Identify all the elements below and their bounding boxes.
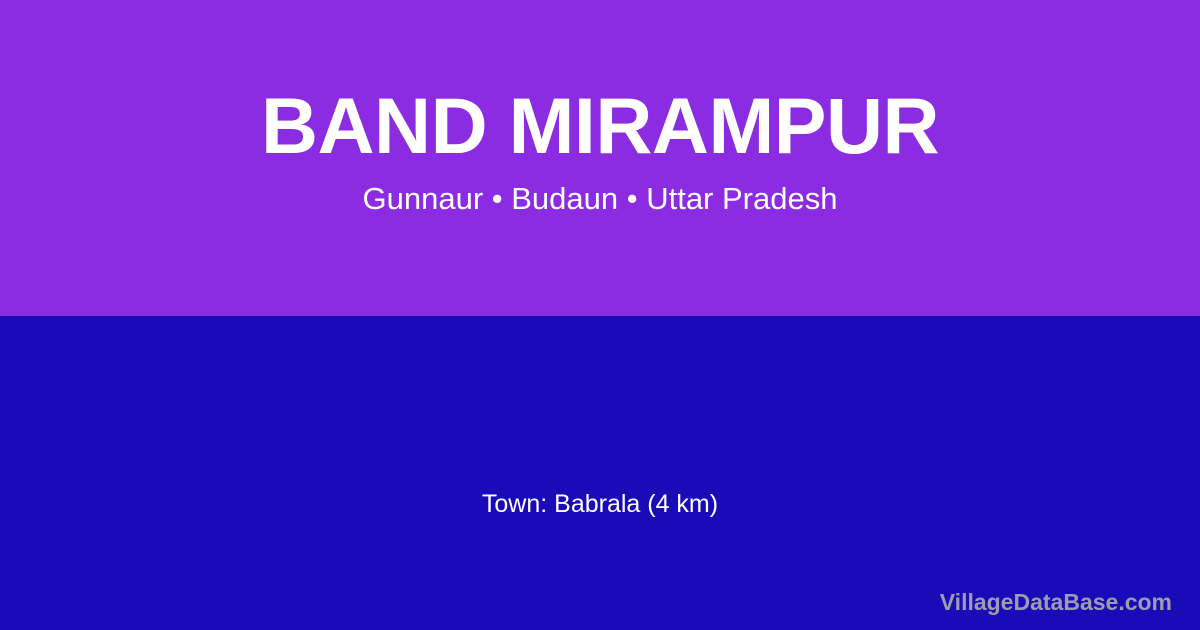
body-band: Town: Babrala (4 km) VillageDataBase.com [0,316,1200,630]
nearest-town-detail: Town: Babrala (4 km) [0,488,1200,520]
hero-band: BAND MIRAMPUR Gunnaur • Budaun • Uttar P… [0,0,1200,316]
page-title: BAND MIRAMPUR [0,79,1200,173]
breadcrumb: Gunnaur • Budaun • Uttar Pradesh [0,180,1200,218]
village-info-card: BAND MIRAMPUR Gunnaur • Budaun • Uttar P… [0,0,1200,630]
site-watermark: VillageDataBase.com [940,588,1172,616]
